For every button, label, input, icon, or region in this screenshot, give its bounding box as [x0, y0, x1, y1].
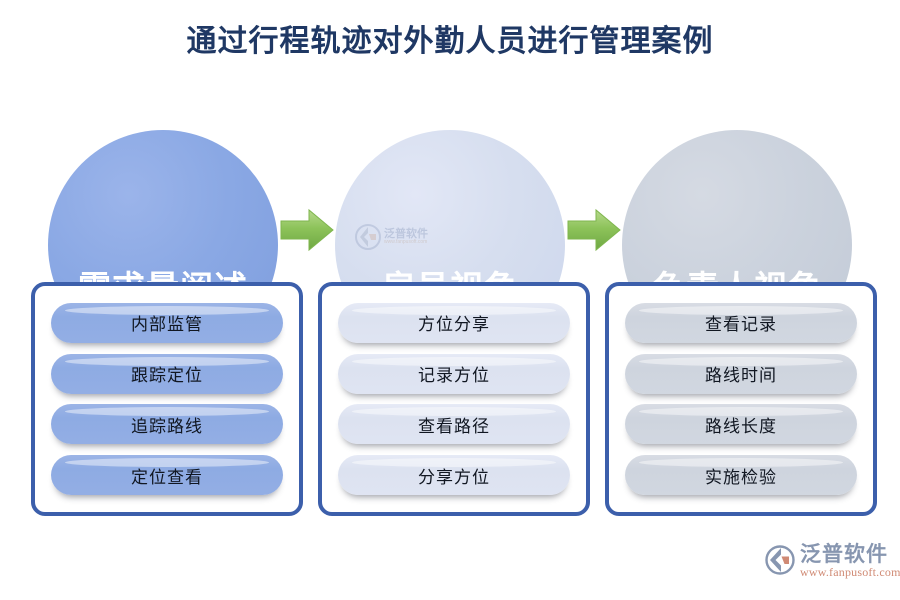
brand-mark-icon [765, 545, 795, 575]
list-item[interactable]: 查看路径 [338, 404, 570, 444]
list-item[interactable]: 路线长度 [625, 404, 857, 444]
brand-company: 泛普软件 [800, 543, 900, 566]
list-item[interactable]: 内部监管 [51, 303, 283, 343]
stage-panel-3: 查看记录 路线时间 路线长度 实施检验 [605, 282, 877, 516]
list-item[interactable]: 跟踪定位 [51, 354, 283, 394]
list-item[interactable]: 分享方位 [338, 455, 570, 495]
brand-logo: 泛普软件 www.fanpusoft.com [765, 543, 900, 579]
arrow-right-icon [566, 207, 622, 253]
list-item[interactable]: 追踪路线 [51, 404, 283, 444]
stage-panel-1: 内部监管 跟踪定位 追踪路线 定位查看 [31, 282, 303, 516]
list-item[interactable]: 方位分享 [338, 303, 570, 343]
arrow-right-icon [279, 207, 335, 253]
stage-panel-2: 方位分享 记录方位 查看路径 分享方位 [318, 282, 590, 516]
list-item[interactable]: 路线时间 [625, 354, 857, 394]
list-item[interactable]: 定位查看 [51, 455, 283, 495]
list-item[interactable]: 实施检验 [625, 455, 857, 495]
brand-url: www.fanpusoft.com [800, 566, 900, 579]
list-item[interactable]: 记录方位 [338, 354, 570, 394]
process-diagram: 需求量阐述 雇员视角 [0, 0, 900, 600]
list-item[interactable]: 查看记录 [625, 303, 857, 343]
